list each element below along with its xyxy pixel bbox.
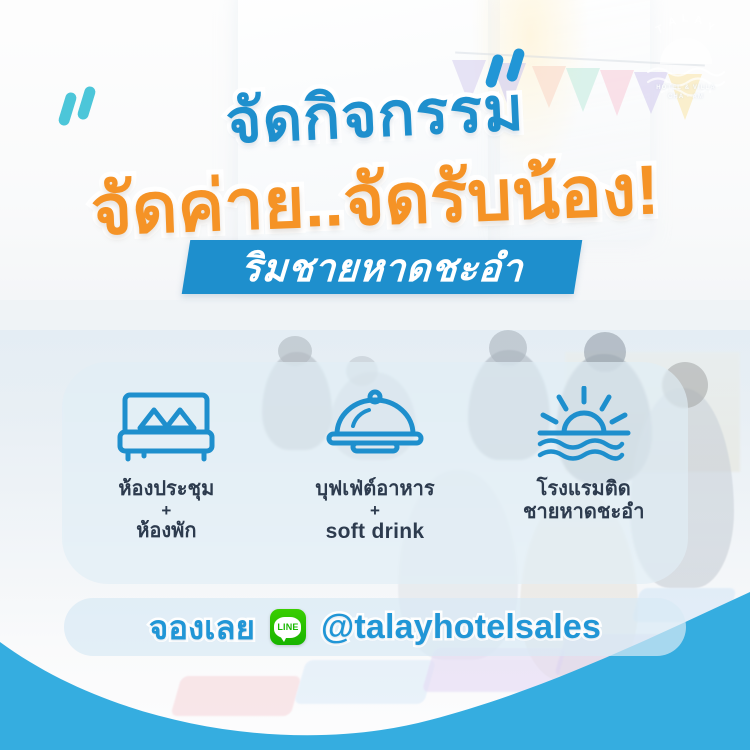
- svg-text:A: A: [667, 15, 679, 29]
- line-app-icon[interactable]: LINE: [270, 609, 306, 645]
- bed-icon: [114, 384, 218, 466]
- feature-label-top: โรงแรมติด: [523, 478, 644, 501]
- feature-item-rooms: ห้องประชุม + ห้องพัก: [62, 362, 271, 543]
- sunrise-waves-icon: [532, 384, 636, 466]
- feature-label-beach: โรงแรมติด ชายหาดชะอำ: [523, 478, 644, 524]
- svg-text:Y: Y: [705, 21, 717, 35]
- headline-group: จัดกิจกรรม จัดค่าย..จัดรับน้อง!: [0, 66, 750, 256]
- feature-item-beach: โรงแรมติด ชายหาดชะอำ: [479, 362, 688, 524]
- feature-item-food: บุฟเฟ่ต์อาหาร + soft drink: [271, 362, 480, 545]
- food-cloche-icon: [323, 384, 427, 466]
- subtitle-text: ริมชายหาดชะอำ: [185, 240, 580, 294]
- line-icon-label: LINE: [277, 622, 298, 632]
- cta-text: จองเลย: [149, 601, 255, 654]
- feature-plus: +: [315, 502, 434, 519]
- feature-plus: +: [118, 502, 214, 519]
- svg-text:T: T: [654, 23, 666, 37]
- feature-label-bottom: ห้องพัก: [118, 520, 214, 543]
- contact-row: จองเลย LINE @talayhotelsales: [64, 598, 686, 656]
- line-bubble: LINE: [274, 617, 301, 638]
- line-handle[interactable]: @talayhotelsales: [321, 608, 601, 647]
- promotional-poster: T A L A Y HOTEL & VILLA CHA - AM จัดกิจก…: [0, 0, 750, 750]
- svg-text:A: A: [694, 14, 705, 27]
- svg-text:L: L: [682, 13, 690, 25]
- feature-label-food: บุฟเฟ่ต์อาหาร + soft drink: [315, 478, 434, 545]
- feature-label-rooms: ห้องประชุม + ห้องพัก: [118, 478, 214, 543]
- feature-label-top: ห้องประชุม: [118, 478, 214, 501]
- feature-label-bottom: soft drink: [315, 520, 434, 544]
- feature-label-top: บุฟเฟ่ต์อาหาร: [315, 478, 434, 501]
- feature-label-bottom: ชายหาดชะอำ: [523, 501, 644, 524]
- features-list: ห้องประชุม + ห้องพัก บุฟเฟ่ต์อาหาร + sof…: [62, 362, 688, 584]
